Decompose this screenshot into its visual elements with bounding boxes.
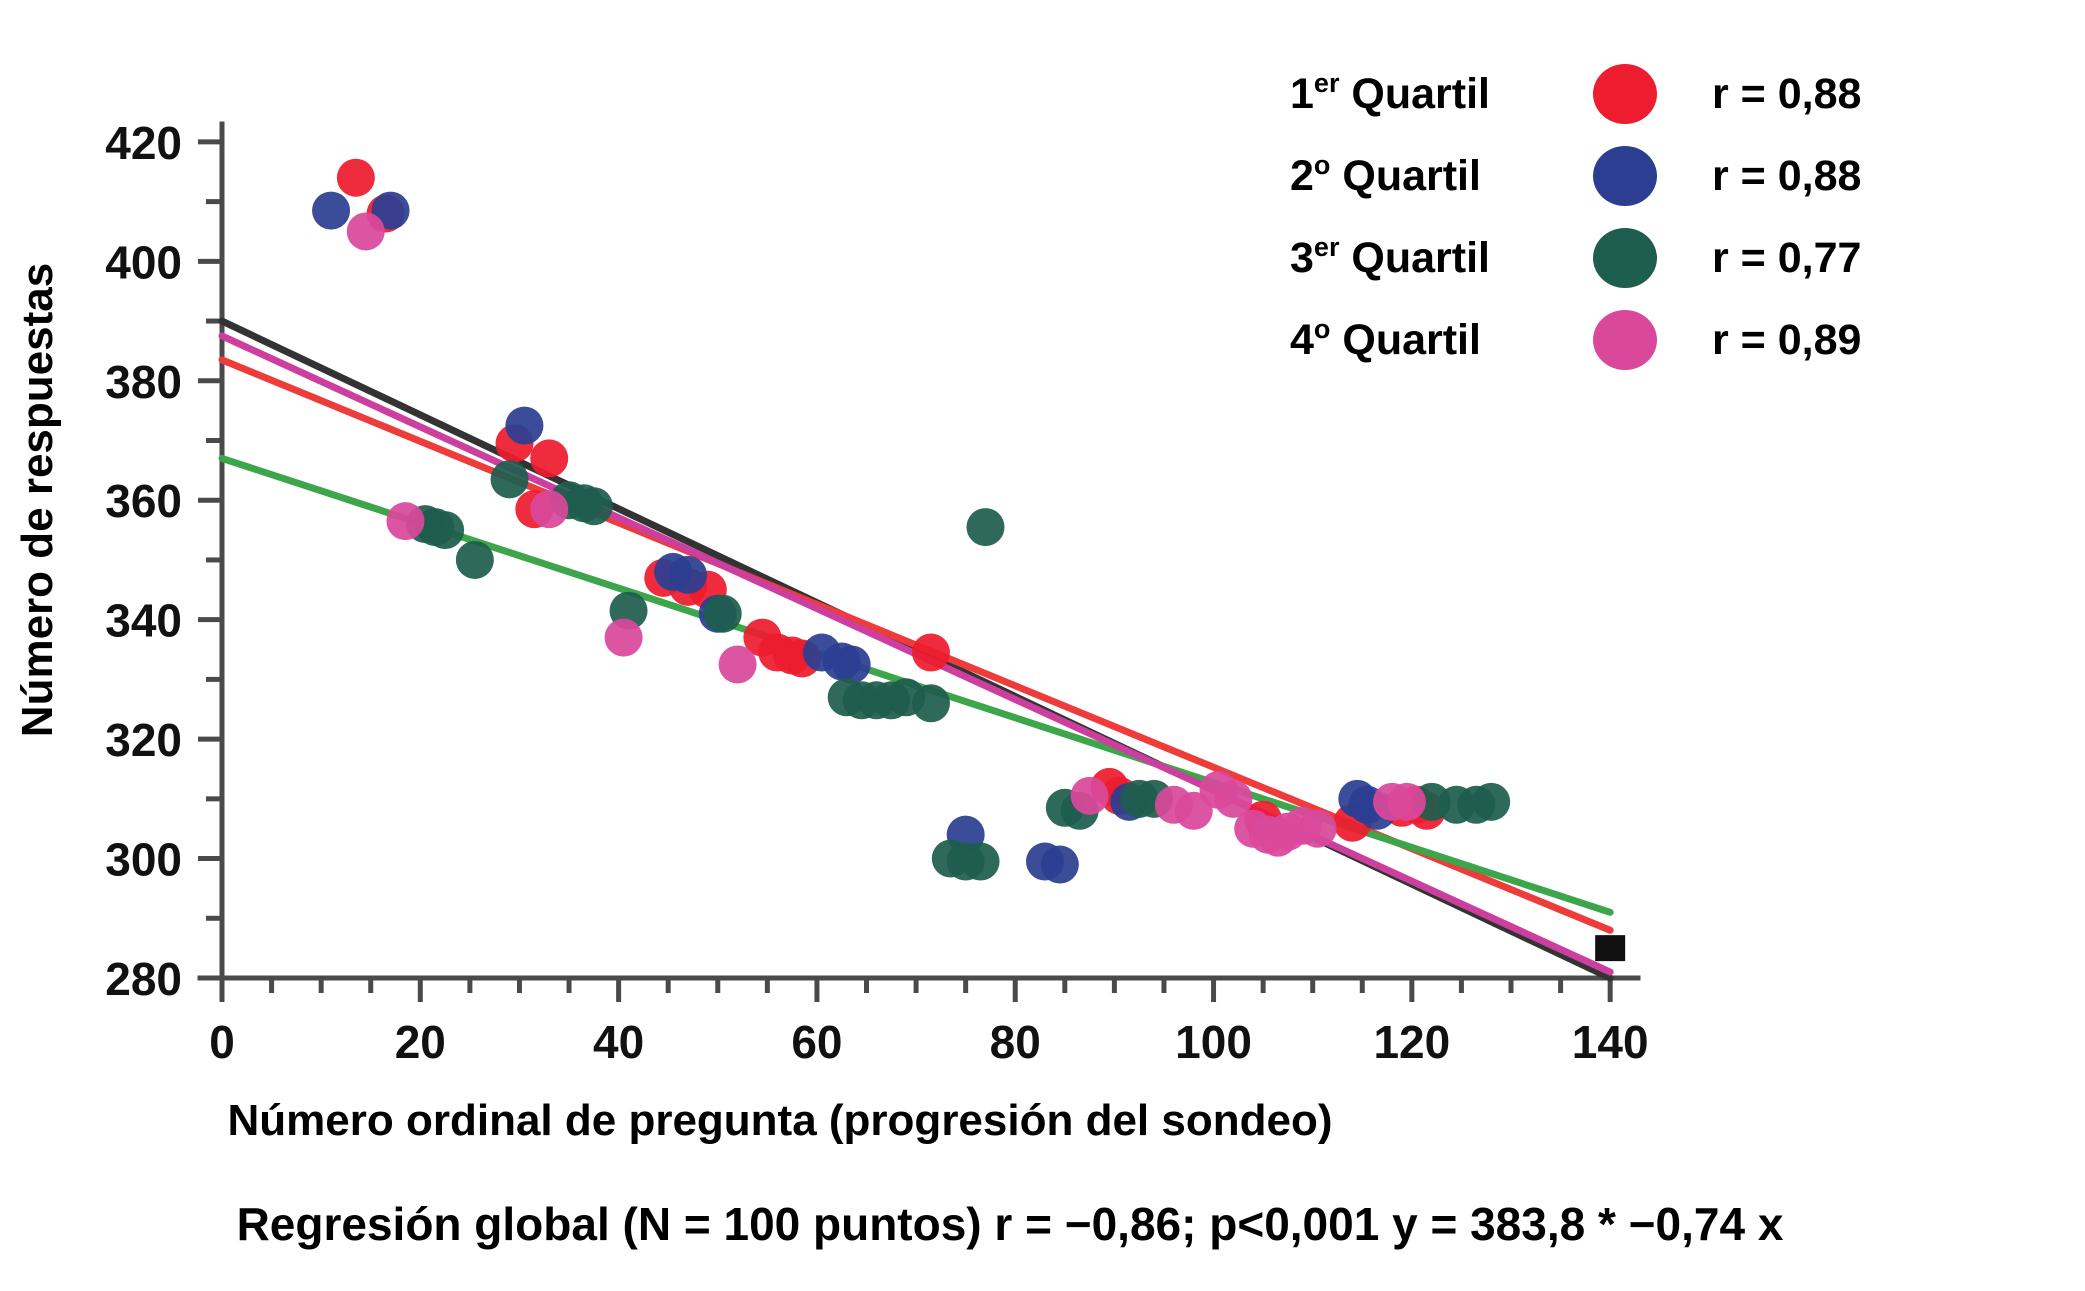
x-tick-label: 20 <box>395 1016 446 1068</box>
data-point <box>491 460 529 498</box>
figure-root: 2803003203403603804004200204060801001201… <box>0 0 2085 1291</box>
y-tick-label: 340 <box>105 595 182 647</box>
y-tick-label: 420 <box>105 117 182 169</box>
x-tick-label: 100 <box>1175 1016 1252 1068</box>
data-point <box>312 192 350 230</box>
chart-caption: Regresión global (N = 100 puntos) r = −0… <box>237 1198 1784 1250</box>
data-point <box>962 843 1000 881</box>
legend-color-swatch <box>1593 146 1657 206</box>
data-point <box>1472 783 1510 821</box>
y-tick-label: 280 <box>105 953 182 1005</box>
y-tick-label: 300 <box>105 834 182 886</box>
data-point <box>1041 846 1079 884</box>
legend-r-value: r = 0,88 <box>1712 152 1861 200</box>
x-tick-label: 60 <box>791 1016 842 1068</box>
x-axis-title: Número ordinal de pregunta (progresión d… <box>228 1096 1333 1145</box>
data-point <box>669 556 707 594</box>
legend-color-swatch <box>1593 310 1657 370</box>
legend-r-value: r = 0,88 <box>1712 70 1861 118</box>
x-tick-label: 0 <box>209 1016 235 1068</box>
y-tick-label: 400 <box>105 236 182 288</box>
data-point <box>605 619 643 657</box>
data-point <box>530 490 568 528</box>
y-axis-title: Número de respuestas <box>13 263 62 737</box>
y-tick-label: 320 <box>105 714 182 766</box>
endpoint-square-marker <box>1595 935 1625 961</box>
data-point <box>456 541 494 579</box>
data-point <box>912 684 950 722</box>
legend-color-swatch <box>1593 64 1657 124</box>
data-point <box>966 508 1004 546</box>
data-point <box>505 407 543 445</box>
data-point <box>386 502 424 540</box>
x-tick-label: 80 <box>990 1016 1041 1068</box>
legend-color-swatch <box>1593 228 1657 288</box>
data-point <box>833 645 871 683</box>
data-point <box>704 595 742 633</box>
x-tick-label: 40 <box>593 1016 644 1068</box>
x-tick-label: 120 <box>1373 1016 1450 1068</box>
x-tick-label: 140 <box>1572 1016 1649 1068</box>
data-point <box>337 159 375 197</box>
data-point <box>719 645 757 683</box>
y-tick-label: 380 <box>105 356 182 408</box>
y-tick-label: 360 <box>105 475 182 527</box>
data-point <box>575 487 613 525</box>
data-point <box>426 511 464 549</box>
data-point <box>912 634 950 672</box>
data-point <box>1299 810 1337 848</box>
data-point <box>530 439 568 477</box>
data-point <box>347 212 385 250</box>
endpoint-marker-group <box>1595 935 1625 961</box>
scatter-chart: 2803003203403603804004200204060801001201… <box>0 0 2085 1291</box>
data-point <box>1388 783 1426 821</box>
legend-r-value: r = 0,89 <box>1712 316 1861 364</box>
data-point <box>1071 777 1109 815</box>
legend-r-value: r = 0,77 <box>1712 234 1861 282</box>
